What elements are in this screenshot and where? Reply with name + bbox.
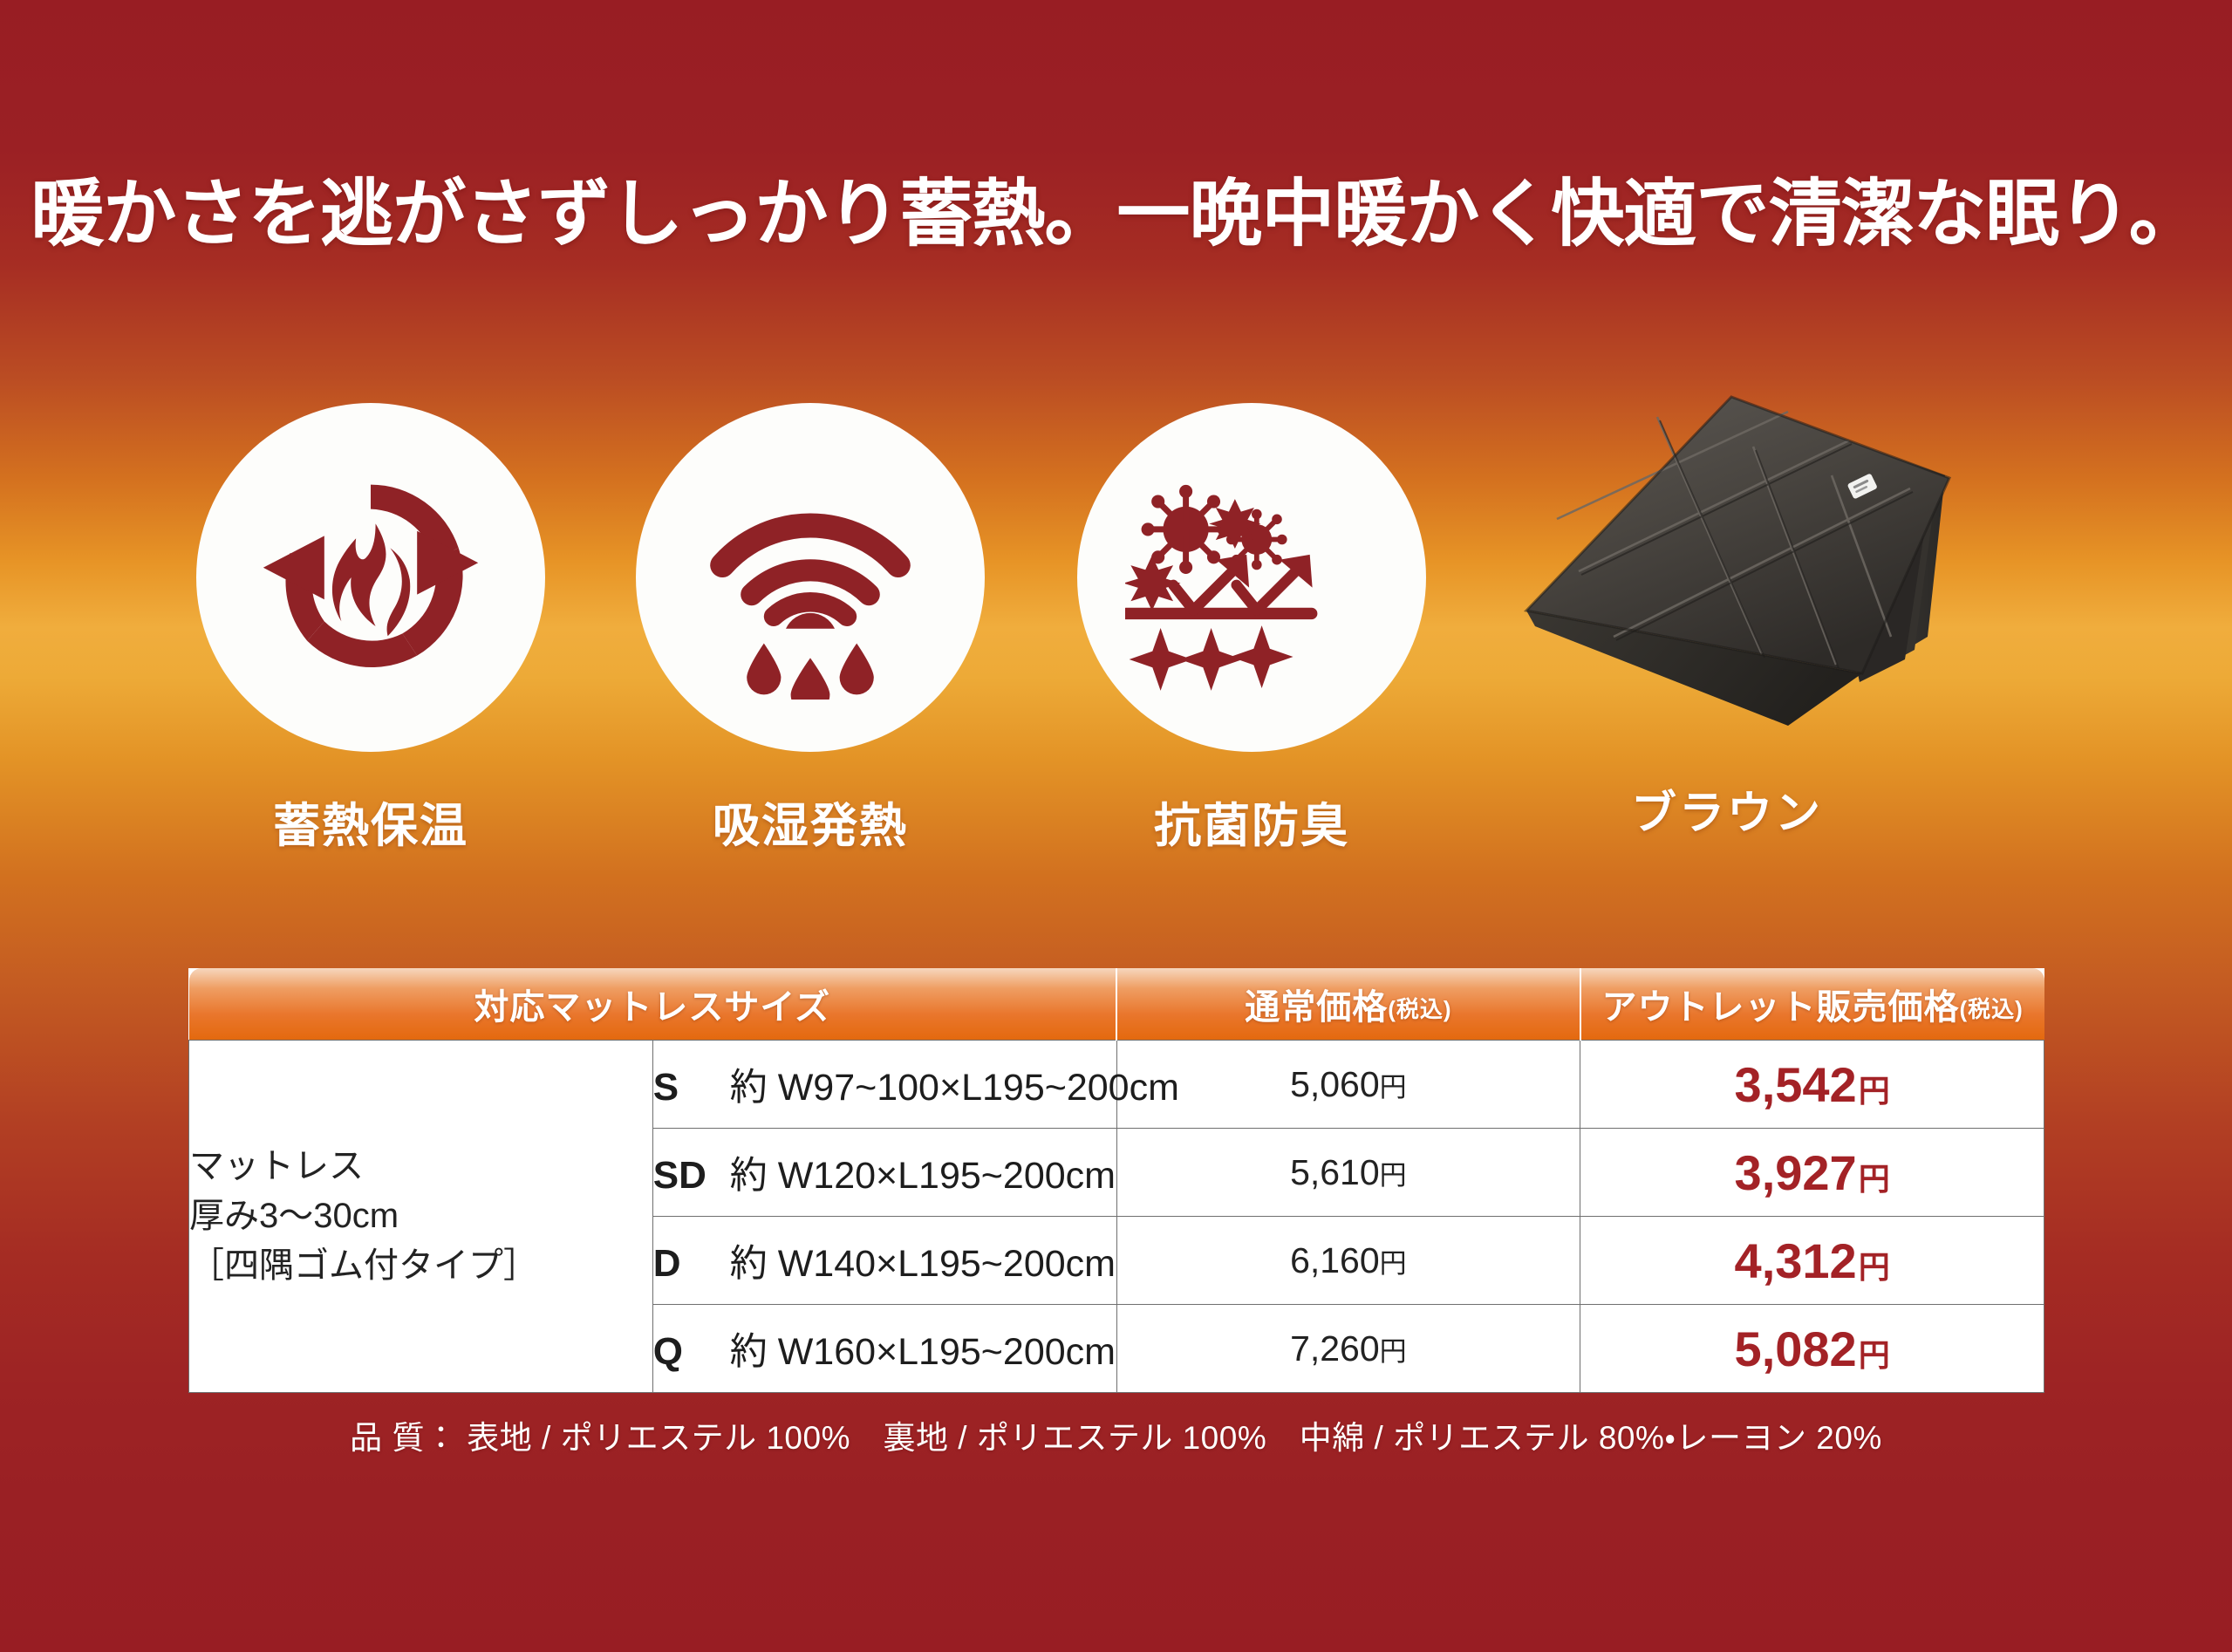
- header-size-label: 対応マットレスサイズ: [474, 988, 830, 1027]
- header-size: 対応マットレスサイズ: [189, 968, 1117, 1041]
- size-dimensions: 約 W140×L195~200cm: [730, 1243, 1116, 1285]
- outlet-price-unit: 円: [1859, 1161, 1890, 1197]
- antibacterial-deodorant-icon: [1077, 403, 1426, 752]
- normal-price-unit: 円: [1380, 1336, 1407, 1367]
- header-outlet-price-label: アウトレット販売価格: [1601, 988, 1959, 1027]
- outlet-price-value: 5,082: [1735, 1321, 1857, 1376]
- group-label-line: ［四隅ゴム付タイプ］: [189, 1241, 652, 1291]
- header-outlet-price-tax: (税込): [1959, 996, 2023, 1022]
- normal-price-unit: 円: [1380, 1072, 1407, 1102]
- feature-moisture-heat: 吸湿発熱: [636, 403, 985, 856]
- price-table-head: 対応マットレスサイズ 通常価格(税込) アウトレット販売価格(税込): [189, 968, 2044, 1041]
- row-outlet-price-cell: 5,082円: [1580, 1305, 2044, 1393]
- row-normal-price-cell: 6,160円: [1116, 1217, 1580, 1305]
- group-label-line: マットレス: [189, 1142, 652, 1191]
- material-footnote: 品 質： 表地 / ポリエステル 100% 裏地 / ポリエステル 100% 中…: [0, 1411, 2232, 1458]
- size-dimensions: 約 W97~100×L195~200cm: [730, 1067, 1179, 1109]
- table-header-row: 対応マットレスサイズ 通常価格(税込) アウトレット販売価格(税込): [189, 968, 2044, 1041]
- row-normal-price-cell: 5,060円: [1116, 1041, 1580, 1129]
- feature-label: 吸湿発熱: [636, 787, 985, 856]
- moisture-heat-icon: [636, 403, 985, 752]
- normal-price-unit: 円: [1380, 1248, 1407, 1279]
- header-normal-price-tax: (税込): [1388, 996, 1451, 1022]
- header-normal-price: 通常価格(税込): [1116, 968, 1580, 1041]
- normal-price-value: 5,610: [1290, 1152, 1380, 1192]
- row-outlet-price-cell: 3,927円: [1580, 1129, 2044, 1217]
- size-code: Q: [653, 1330, 718, 1374]
- row-size-cell: SD約 W120×L195~200cm: [652, 1129, 1116, 1217]
- feature-antibacterial: 抗菌防臭: [1077, 403, 1426, 856]
- outlet-price-unit: 円: [1859, 1073, 1890, 1109]
- normal-price-unit: 円: [1380, 1160, 1407, 1191]
- outlet-price-value: 3,927: [1735, 1145, 1857, 1200]
- group-label-line: 厚み3〜30cm: [189, 1191, 652, 1241]
- banner-canvas: 暖かさを逃がさずしっかり蓄熱。一晩中暖かく快適で清潔な眠り。: [0, 0, 2232, 1652]
- group-label-cell: マットレス 厚み3〜30cm ［四隅ゴム付タイプ］: [189, 1041, 653, 1393]
- heat-retention-icon: [196, 403, 545, 752]
- row-outlet-price-cell: 3,542円: [1580, 1041, 2044, 1129]
- feature-icon-row: 蓄熱保温 吸湿発熱: [188, 403, 1444, 560]
- row-normal-price-cell: 7,260円: [1116, 1305, 1580, 1393]
- outlet-price-value: 4,312: [1735, 1233, 1857, 1288]
- row-normal-price-cell: 5,610円: [1116, 1129, 1580, 1217]
- row-outlet-price-cell: 4,312円: [1580, 1217, 2044, 1305]
- price-table-body: マットレス 厚み3〜30cm ［四隅ゴム付タイプ］ S約 W97~100×L19…: [189, 1041, 2044, 1393]
- price-table: 対応マットレスサイズ 通常価格(税込) アウトレット販売価格(税込) マットレス…: [188, 968, 2044, 1393]
- outlet-price-unit: 円: [1859, 1249, 1890, 1285]
- price-table-wrapper: 対応マットレスサイズ 通常価格(税込) アウトレット販売価格(税込) マットレス…: [188, 968, 2044, 1393]
- header-normal-price-label: 通常価格: [1245, 988, 1388, 1027]
- size-dimensions: 約 W160×L195~200cm: [730, 1331, 1116, 1373]
- product-color-label: ブラウン: [1474, 776, 1980, 842]
- normal-price-value: 7,260: [1290, 1328, 1380, 1369]
- size-code: S: [653, 1066, 718, 1109]
- folded-quilted-mattress-pad: [1474, 349, 1980, 759]
- page-title: 暖かさを逃がさずしっかり蓄熱。一晩中暖かく快適で清潔な眠り。: [0, 171, 2232, 257]
- table-row: マットレス 厚み3〜30cm ［四隅ゴム付タイプ］ S約 W97~100×L19…: [189, 1041, 2044, 1129]
- feature-label: 抗菌防臭: [1077, 787, 1426, 856]
- feature-label: 蓄熱保温: [196, 787, 545, 856]
- header-outlet-price: アウトレット販売価格(税込): [1580, 968, 2044, 1041]
- row-size-cell: D約 W140×L195~200cm: [652, 1217, 1116, 1305]
- row-size-cell: Q約 W160×L195~200cm: [652, 1305, 1116, 1393]
- row-size-cell: S約 W97~100×L195~200cm: [652, 1041, 1116, 1129]
- normal-price-value: 6,160: [1290, 1240, 1380, 1280]
- size-code: SD: [653, 1154, 718, 1198]
- feature-heat-retention: 蓄熱保温: [196, 403, 545, 856]
- size-code: D: [653, 1242, 718, 1286]
- normal-price-value: 5,060: [1290, 1064, 1380, 1104]
- product-swatch: ブラウン: [1474, 349, 1980, 842]
- size-dimensions: 約 W120×L195~200cm: [730, 1155, 1116, 1197]
- outlet-price-unit: 円: [1859, 1337, 1890, 1373]
- outlet-price-value: 3,542: [1735, 1057, 1857, 1112]
